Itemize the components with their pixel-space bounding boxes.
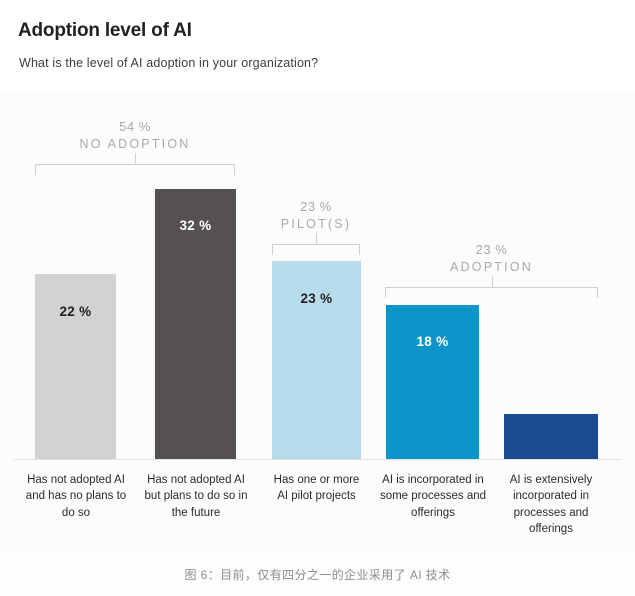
bracket-tick-right (234, 164, 235, 175)
annotation-percent: 54 % (35, 118, 235, 136)
category-label-4: AI is incorporated in some processes and… (376, 472, 490, 521)
category-label-3: Has one or more AI pilot projects (268, 472, 365, 505)
annotation-label-pilots: 23 % PILOT(S) (258, 198, 374, 232)
plot-area: 54 % NO ADOPTION 23 % PILOT(S) 23 % ADOP… (0, 92, 635, 552)
annotation-label-no-adoption: 54 % NO ADOPTION (35, 118, 235, 152)
bar-pilot-projects[interactable]: 23 % (272, 261, 361, 459)
category-label-2: Has not adopted AI but plans to do so in… (140, 472, 252, 521)
annotation-name: PILOT(S) (258, 216, 374, 233)
bar-has-not-adopted-no-plans[interactable]: 22 % (35, 274, 116, 459)
annotation-name: NO ADOPTION (35, 136, 235, 153)
bracket-stem (316, 233, 317, 244)
category-label-1: Has not adopted AI and has no plans to d… (20, 472, 132, 521)
figure: Adoption level of AI What is the level o… (0, 0, 635, 596)
annotation-percent: 23 % (385, 241, 598, 259)
bar-has-not-adopted-plans-future[interactable]: 32 % (155, 189, 236, 459)
bracket-stem (492, 276, 493, 287)
annotation-label-adoption: 23 % ADOPTION (385, 241, 598, 275)
annotation-name: ADOPTION (385, 259, 598, 276)
bar-extensively-incorporated[interactable] (504, 414, 598, 459)
bracket-line (35, 164, 235, 165)
bracket-stem (135, 153, 136, 164)
figure-caption: 图 6：目前，仅有四分之一的企业采用了 AI 技术 (0, 566, 635, 583)
chart-subtitle: What is the level of AI adoption in your… (19, 56, 318, 70)
bracket-tick-right (359, 244, 360, 255)
category-label-5: AI is extensively incorporated in proces… (494, 472, 608, 537)
bar-value-label: 23 % (272, 291, 361, 306)
axis-baseline (14, 459, 621, 460)
bracket-tick-left (272, 244, 273, 255)
bracket-line (385, 287, 598, 288)
bracket-tick-right (597, 287, 598, 298)
page-title: Adoption level of AI (18, 20, 192, 42)
bracket-tick-left (35, 164, 36, 175)
bar-incorporated-some-processes[interactable]: 18 % (386, 305, 479, 459)
bracket-tick-left (385, 287, 386, 298)
bar-value-label: 32 % (155, 218, 236, 233)
chart-header: Adoption level of AI What is the level o… (0, 0, 635, 92)
bar-value-label: 18 % (386, 334, 479, 349)
bracket-line (272, 244, 360, 245)
bar-value-label: 22 % (35, 304, 116, 319)
annotation-percent: 23 % (258, 198, 374, 216)
